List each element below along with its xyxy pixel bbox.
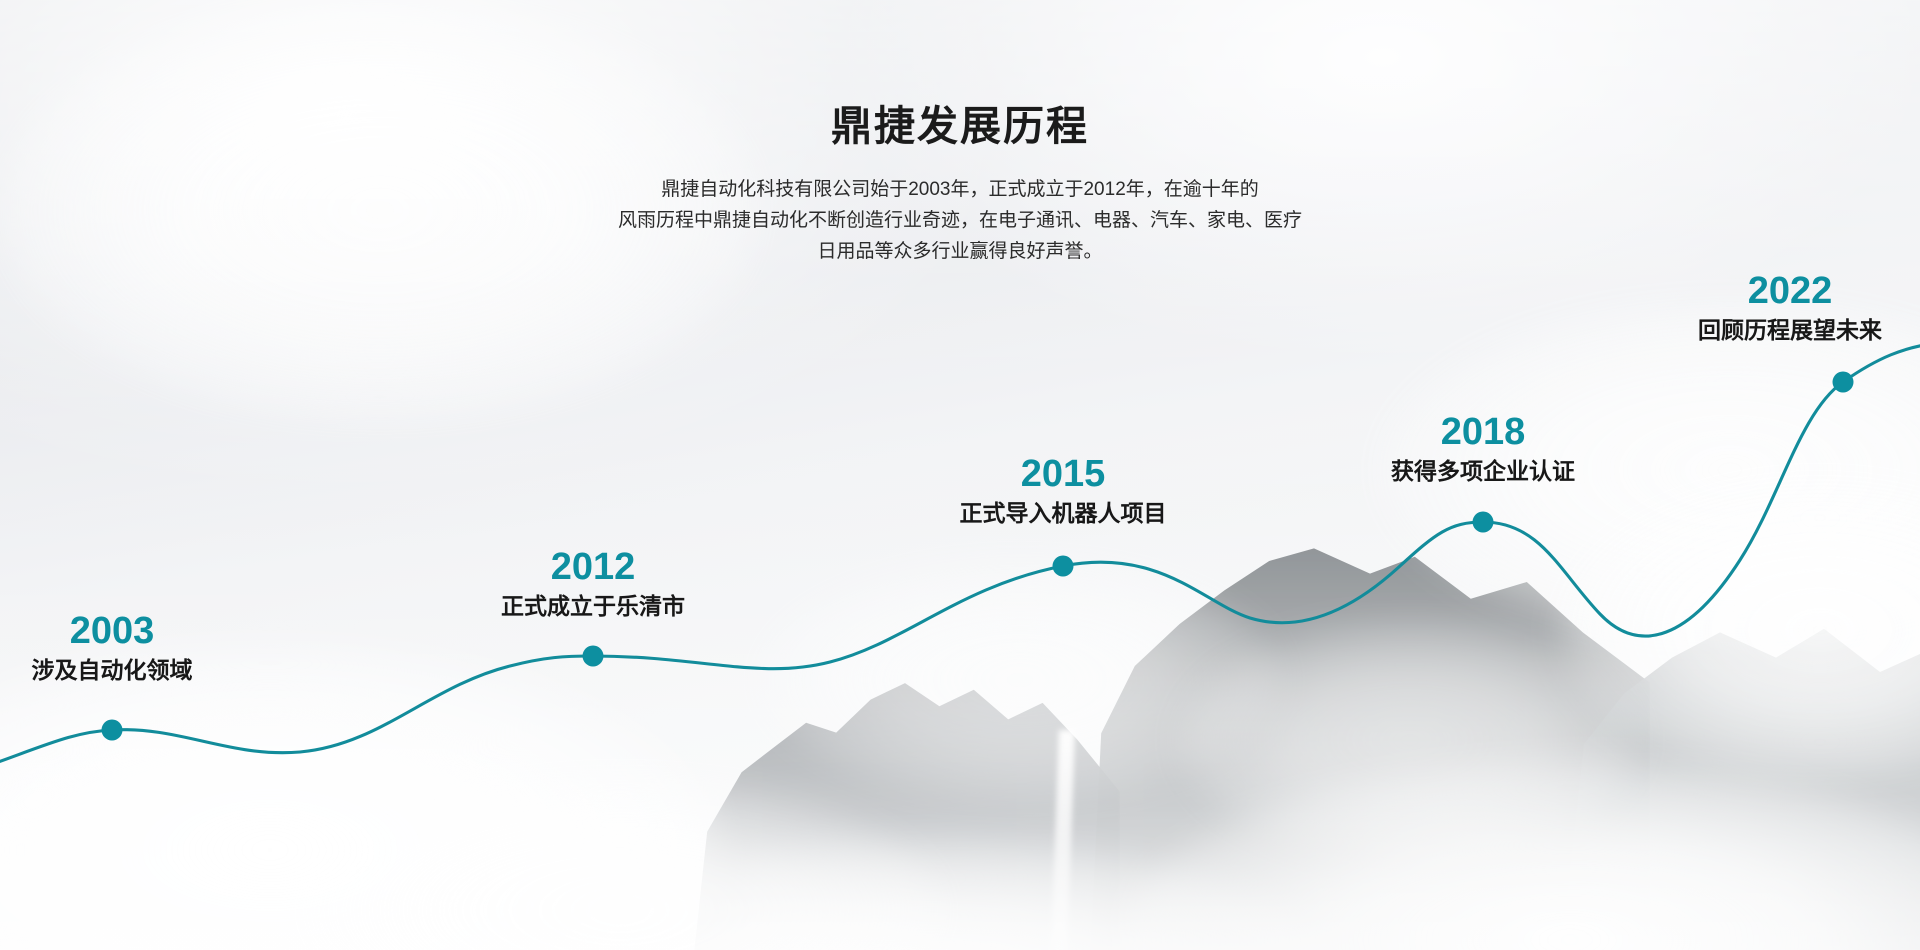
milestone-2015[interactable]: 2015 正式导入机器人项目 <box>960 455 1167 528</box>
milestone-2018[interactable]: 2018 获得多项企业认证 <box>1391 413 1575 486</box>
timeline-node-dot[interactable] <box>1053 556 1074 577</box>
timeline-node-dot[interactable] <box>1473 512 1494 533</box>
milestone-2022[interactable]: 2022 回顾历程展望未来 <box>1698 272 1882 345</box>
intro-line-2: 风雨历程中鼎捷自动化不断创造行业奇迹，在电子通讯、电器、汽车、家电、医疗 <box>0 206 1920 237</box>
timeline-node-dot[interactable] <box>1833 372 1854 393</box>
timeline-node-dot[interactable] <box>102 720 123 741</box>
timeline-nodes <box>102 372 1854 741</box>
intro-line-3: 日用品等众多行业赢得良好声誉。 <box>0 237 1920 268</box>
milestone-description: 正式导入机器人项目 <box>960 499 1167 528</box>
milestone-2003[interactable]: 2003 涉及自动化领域 <box>32 612 193 685</box>
timeline-infographic: 鼎捷发展历程 鼎捷自动化科技有限公司始于2003年，正式成立于2012年，在逾十… <box>0 0 1920 950</box>
milestone-year: 2018 <box>1391 413 1575 453</box>
header: 鼎捷发展历程 鼎捷自动化科技有限公司始于2003年，正式成立于2012年，在逾十… <box>0 104 1920 267</box>
timeline-node-dot[interactable] <box>583 646 604 667</box>
milestone-year: 2012 <box>501 548 685 588</box>
milestone-year: 2015 <box>960 455 1167 495</box>
intro-line-1: 鼎捷自动化科技有限公司始于2003年，正式成立于2012年，在逾十年的 <box>0 175 1920 206</box>
milestone-description: 回顾历程展望未来 <box>1698 316 1882 345</box>
page-intro: 鼎捷自动化科技有限公司始于2003年，正式成立于2012年，在逾十年的 风雨历程… <box>0 175 1920 267</box>
page-title: 鼎捷发展历程 <box>0 104 1920 149</box>
milestone-description: 涉及自动化领域 <box>32 656 193 685</box>
milestone-description: 正式成立于乐清市 <box>501 592 685 621</box>
milestone-2012[interactable]: 2012 正式成立于乐清市 <box>501 548 685 621</box>
milestone-year: 2003 <box>32 612 193 652</box>
milestone-description: 获得多项企业认证 <box>1391 457 1575 486</box>
milestone-year: 2022 <box>1698 272 1882 312</box>
